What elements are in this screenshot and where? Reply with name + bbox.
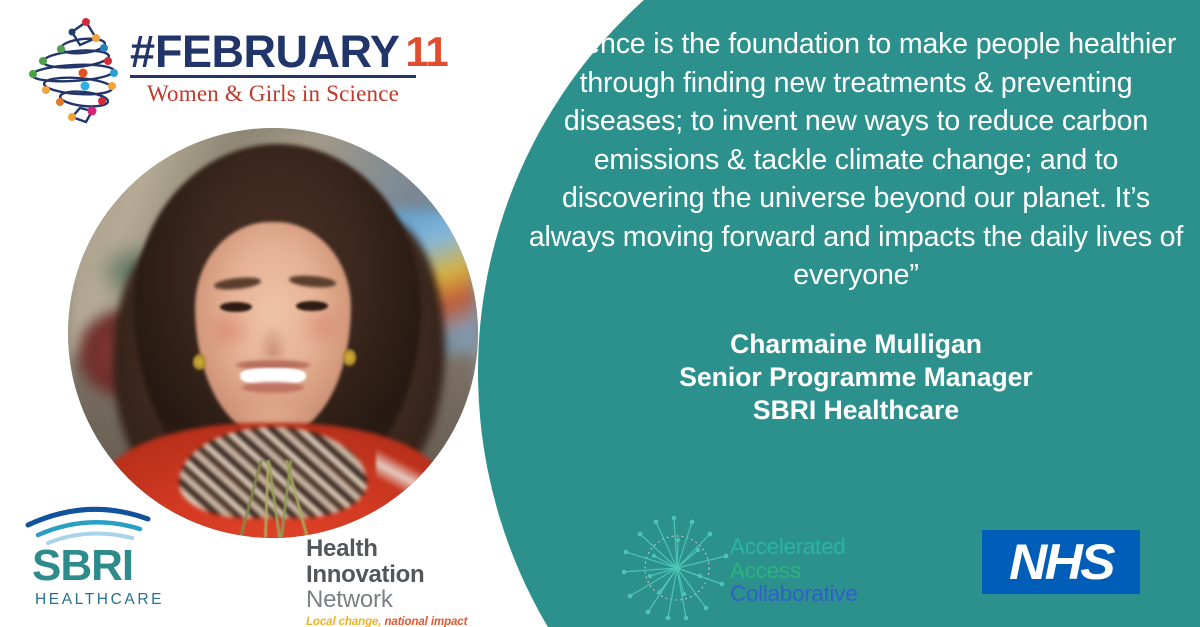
february-11-wordmark: # FEBRUARY 11 Women & Girls in Science [130, 20, 420, 108]
hin-line-3: Network [306, 587, 486, 614]
accelerated-access-collaborative-logo: Accelerated Access Collaborative [622, 516, 862, 620]
hashtag-symbol: # [130, 30, 153, 74]
day-label: 11 [405, 30, 447, 74]
starburst-icon [622, 516, 732, 620]
portrait-image [68, 128, 478, 538]
aac-wordmark: Accelerated Access Collaborative [730, 535, 857, 606]
foreground-grass [216, 460, 339, 538]
speaker-block: Charmaine Mulligan Senior Programme Mana… [520, 328, 1192, 427]
eye-right [296, 301, 329, 311]
cheek-right [298, 304, 347, 349]
nhs-wordmark: NHS [1009, 537, 1113, 587]
campaign-subtitle: Women & Girls in Science [130, 80, 416, 108]
aac-line-3: Collaborative [730, 582, 857, 606]
aac-line-1: Accelerated [730, 535, 857, 559]
hin-tagline-part-2: national impact [381, 616, 467, 627]
hin-tagline: Local change, national impact [306, 616, 486, 627]
sbri-healthcare-logo: SBRI HEALTHCARE [22, 505, 172, 610]
month-label: FEBRUARY [155, 30, 399, 74]
aac-line-2: Access [730, 559, 857, 583]
quote-block: “Science is the foundation to make peopl… [520, 25, 1192, 295]
sbri-wordmark: SBRI [32, 543, 133, 589]
speaker-name: Charmaine Mulligan [520, 328, 1192, 361]
earring-left [193, 354, 206, 370]
hin-line-2: Innovation [306, 562, 486, 588]
lower-lip [242, 382, 304, 393]
speaker-organisation: SBRI Healthcare [520, 394, 1192, 427]
speaker-portrait [68, 128, 478, 538]
quote-text: “Science is the foundation to make peopl… [520, 25, 1192, 295]
nhs-logo: NHS [982, 530, 1140, 594]
nose [259, 325, 288, 358]
hin-tagline-part-1: Local change, [306, 616, 381, 627]
speaker-role: Senior Programme Manager [520, 361, 1192, 394]
poster-canvas: “Science is the foundation to make peopl… [0, 0, 1200, 627]
hin-line-1: Health [306, 536, 486, 562]
foreground-feather [376, 431, 433, 529]
february-11-logo: # FEBRUARY 11 Women & Girls in Science [18, 14, 418, 114]
dna-helix-icon [28, 16, 133, 124]
sbri-arcs-icon [24, 505, 152, 545]
cheek-left [203, 308, 252, 353]
sbri-subtitle: HEALTHCARE [35, 591, 164, 609]
earring-right [343, 349, 356, 365]
health-innovation-network-logo: Health Innovation Network Local change, … [306, 536, 486, 618]
